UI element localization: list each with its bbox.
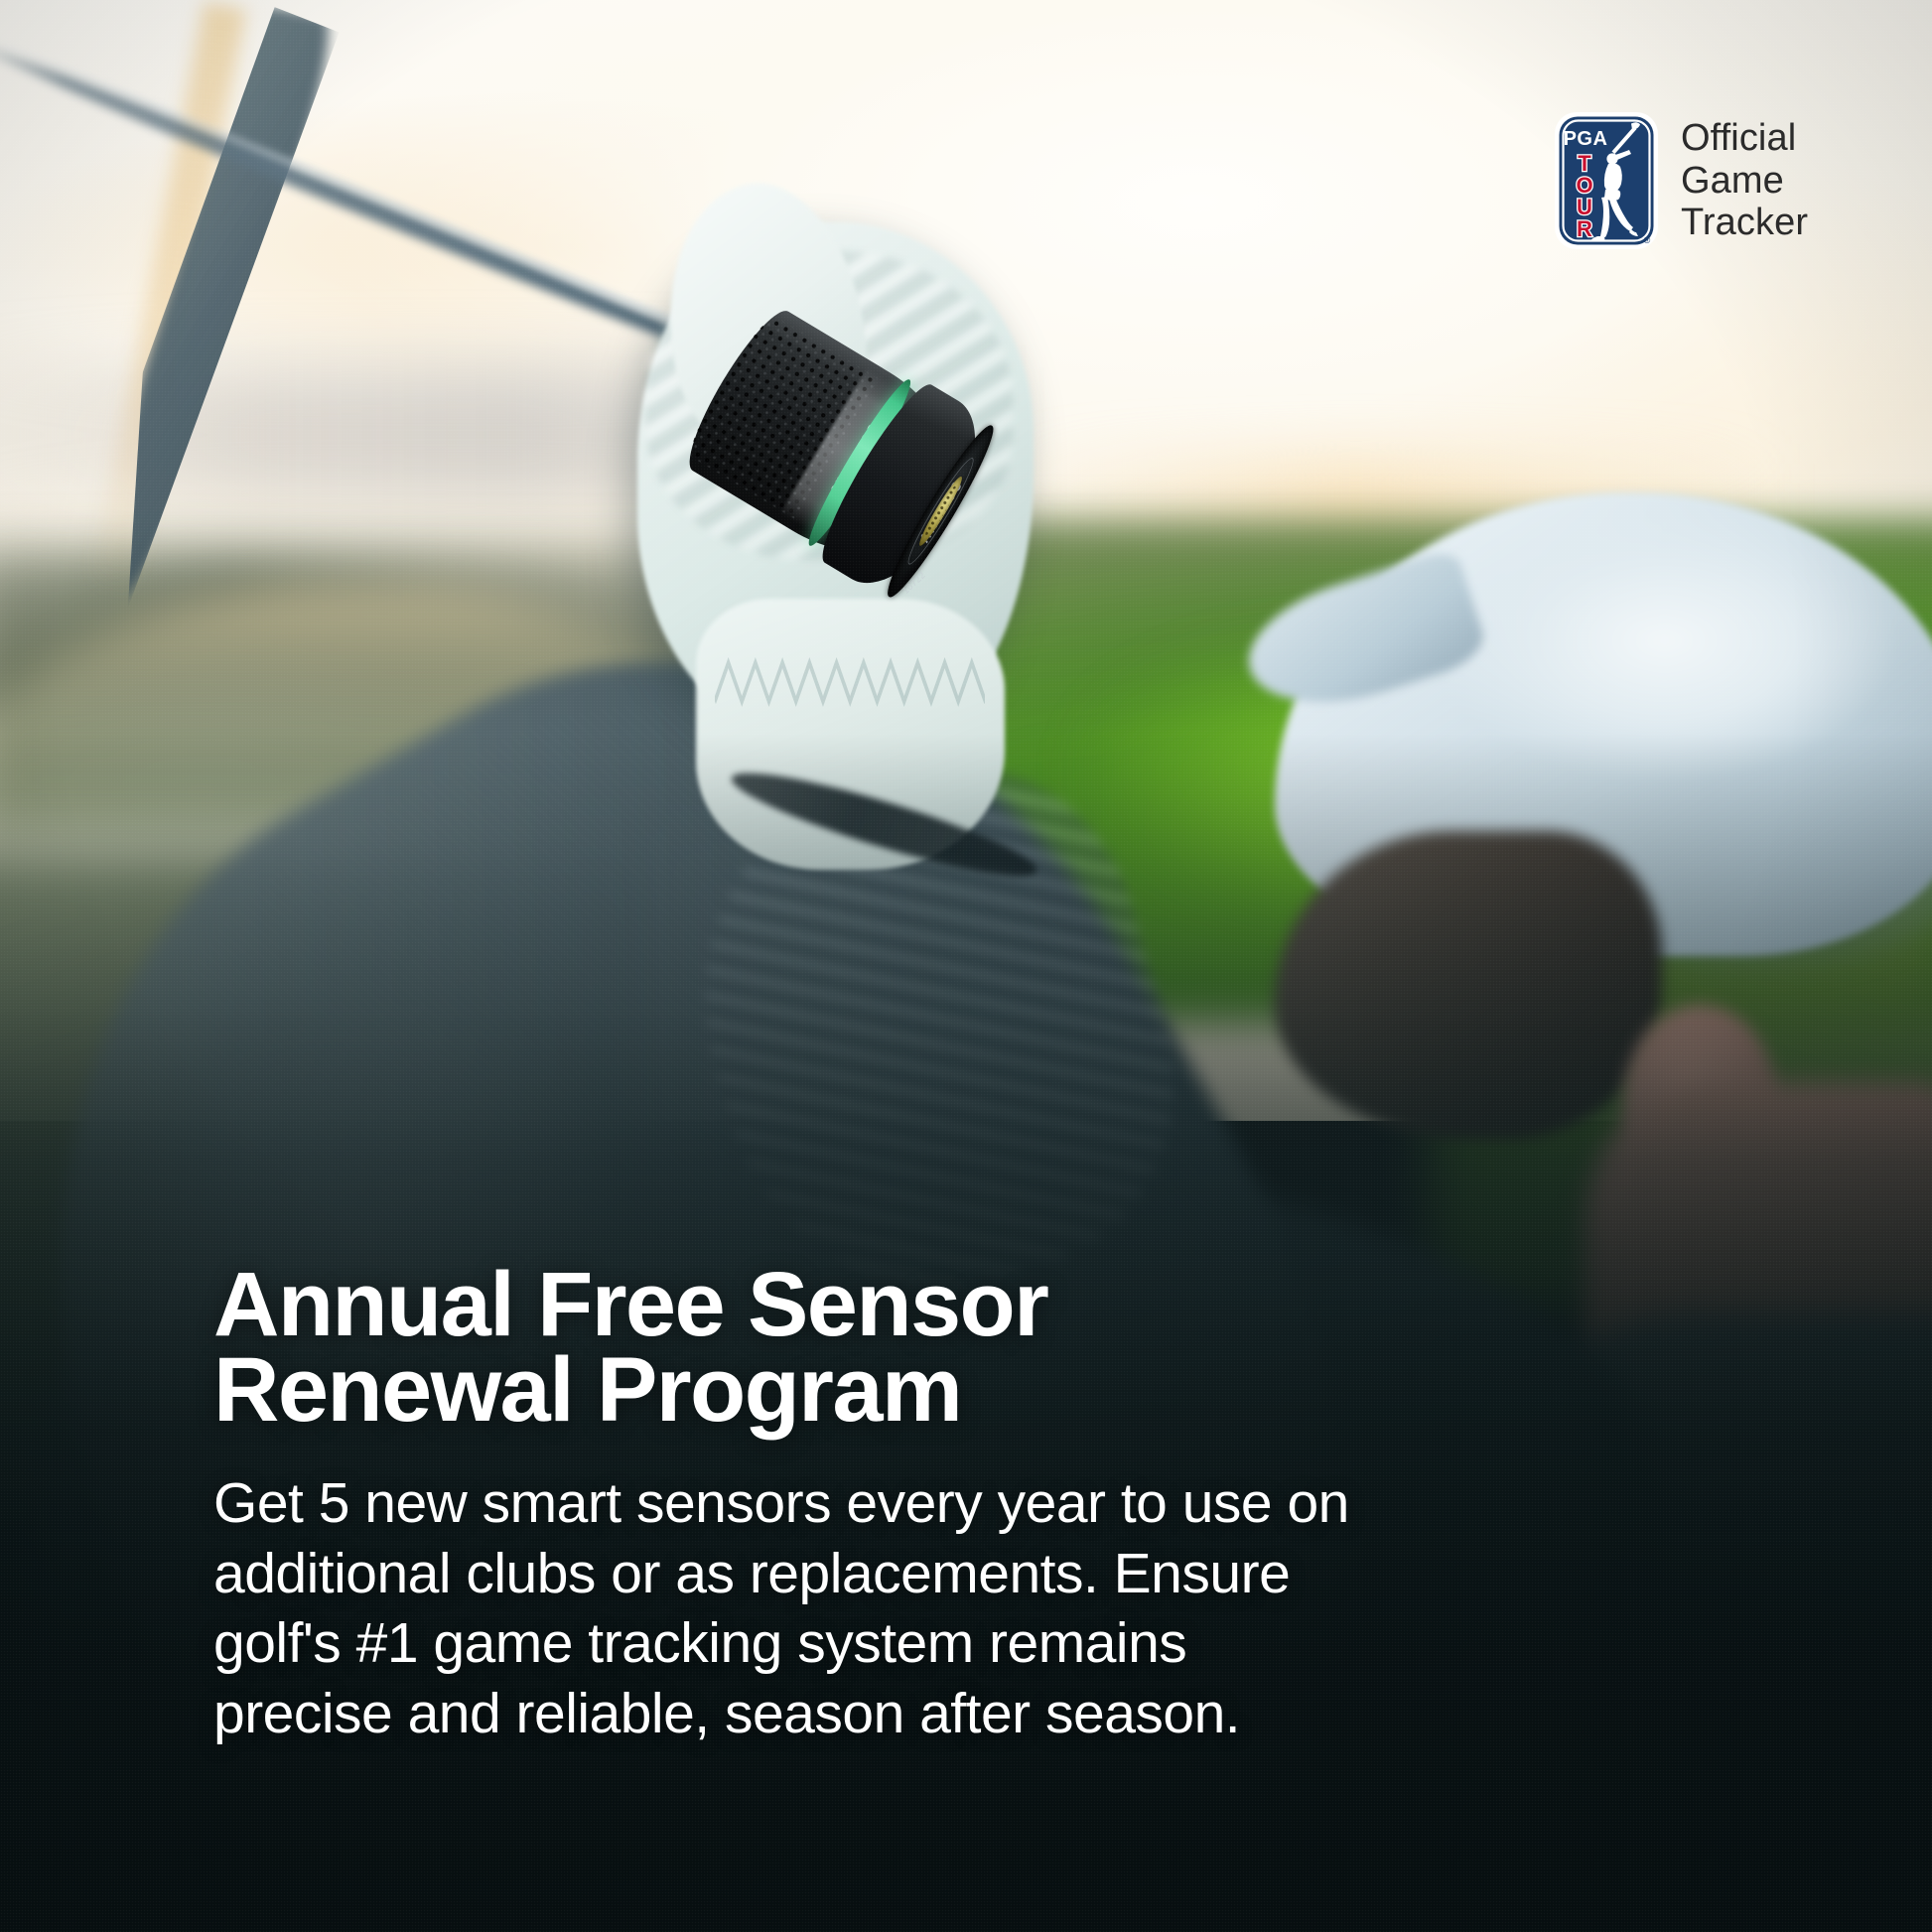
promo-card: Golf Pride ARCCOS 10722 (0, 0, 1932, 1932)
marketing-copy-block: Annual Free Sensor Renewal Program Get 5… (213, 1263, 1623, 1749)
badge-line-official: Official (1681, 117, 1808, 160)
registered-trademark-mark: ® (1644, 235, 1651, 245)
headline-line-1: Annual Free Sensor (213, 1263, 1623, 1348)
body-line-2: additional clubs or as replacements. Ens… (213, 1539, 1623, 1609)
body-line-3: golf's #1 game tracking system remains (213, 1608, 1623, 1679)
headline-line-2: Renewal Program (213, 1348, 1623, 1434)
body-description: Get 5 new smart sensors every year to us… (213, 1468, 1623, 1749)
body-line-4: precise and reliable, season after seaso… (213, 1679, 1623, 1749)
glove-zigzag-stitching (715, 647, 985, 725)
page-title: Annual Free Sensor Renewal Program (213, 1263, 1623, 1433)
svg-text:PGA: PGA (1564, 128, 1608, 150)
pga-tour-logo-icon: PGA T O U R (1554, 111, 1659, 250)
pga-tour-official-game-tracker-badge: PGA T O U R (1554, 111, 1808, 250)
body-line-1: Get 5 new smart sensors every year to us… (213, 1468, 1623, 1539)
official-game-tracker-label: Official Game Tracker (1681, 117, 1808, 245)
badge-line-game: Game (1681, 160, 1808, 203)
badge-line-tracker: Tracker (1681, 202, 1808, 244)
svg-text:R: R (1577, 216, 1592, 241)
